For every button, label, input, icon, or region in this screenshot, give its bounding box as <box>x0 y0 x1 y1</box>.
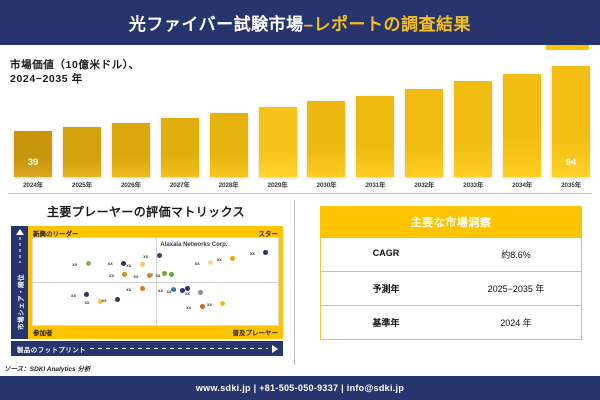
matrix-data-point <box>230 256 235 261</box>
matrix-plot-area: Alaxala Networks Corp. xxxxxxxxxxxxxxxxx… <box>32 237 279 326</box>
bar-column <box>63 59 101 177</box>
matrix-data-point <box>84 292 89 297</box>
matrix-point-label: xx <box>171 287 176 292</box>
bar <box>503 74 541 177</box>
matrix-point-label: xx <box>158 288 163 293</box>
lower-section: 主要プレーヤーの評価マトリックス 市場シェア・順位 新興のリーダー スター 参加… <box>0 196 600 366</box>
infographic-page: 光ファイバー試験市場–レポートの調査結果 市場価値（10億米ドル）、 2024−… <box>0 0 600 400</box>
matrix-point-label: xx <box>109 273 114 278</box>
insights-row-key: 基準年 <box>321 306 451 339</box>
market-value-chart: 市場価値（10億米ドル）、 2024−2035 年 3994 2024年2025… <box>0 50 600 195</box>
chart-bars: 3994 <box>14 59 590 177</box>
matrix-chart: 市場シェア・順位 新興のリーダー スター 参加者 普及プレーヤー Alaxala… <box>11 226 283 339</box>
bar-column: 39 <box>14 59 52 177</box>
footer-contact: www.sdki.jp | +81-505-050-9337 | info@sd… <box>196 383 404 393</box>
x-axis-tick-label: 2026年 <box>112 179 150 193</box>
matrix-x-axis: 製品のフットプリント <box>11 341 283 356</box>
insights-row-key: CAGR <box>321 238 451 271</box>
matrix-point-label: xx <box>71 293 76 298</box>
matrix-point-label: xx <box>167 289 172 294</box>
page-title-accent: –レポートの調査結果 <box>304 15 471 34</box>
bar <box>210 113 248 177</box>
matrix-point-label: xx <box>207 302 212 307</box>
chart-bottom-rule <box>8 193 592 194</box>
matrix-point-label: xx <box>250 251 255 256</box>
x-axis-tick-label: 2031年 <box>356 179 394 193</box>
arrow-up-icon <box>16 229 24 235</box>
quadrant-label-bottom-right: 普及プレーヤー <box>233 327 279 337</box>
bar-column <box>503 59 541 177</box>
source-note: ソース：SDKI Analytics 分析 <box>4 363 90 373</box>
bar-column <box>454 59 492 177</box>
plot-horizontal-divider <box>33 282 278 283</box>
x-axis-tick-label: 2032年 <box>405 179 443 193</box>
matrix-data-point <box>122 272 127 277</box>
matrix-data-point <box>208 260 213 265</box>
insights-row-value: 2025−2035 年 <box>451 272 581 305</box>
insights-row: 基準年2024 年 <box>320 306 582 340</box>
bar-value-label: 94 <box>552 157 590 168</box>
matrix-point-label: xx <box>217 257 222 262</box>
chart-x-axis: 2024年2025年2026年2027年2028年2029年2030年2031年… <box>14 179 590 193</box>
matrix-point-label: xx <box>133 274 138 279</box>
insights-row-value: 2024 年 <box>451 306 581 339</box>
insights-row: 予測年2025−2035 年 <box>320 272 582 306</box>
x-axis-tick-label: 2024年 <box>14 179 52 193</box>
y-axis-dashes <box>19 237 20 263</box>
matrix-point-label: xx <box>143 254 148 259</box>
matrix-point-label: xx <box>195 261 200 266</box>
page-title: 光ファイバー試験市場–レポートの調査結果 <box>129 10 471 35</box>
matrix-data-point <box>220 301 225 306</box>
x-axis-tick-label: 2027年 <box>161 179 199 193</box>
bar: 94 <box>552 66 590 177</box>
x-axis-tick-label: 2034年 <box>503 179 541 193</box>
matrix-data-point <box>121 261 126 266</box>
x-axis-dashes <box>90 348 268 349</box>
matrix-title: 主要プレーヤーの評価マトリックス <box>0 196 292 220</box>
x-axis-tick-label: 2029年 <box>259 179 297 193</box>
bar-column: 94 <box>552 59 590 177</box>
bar <box>356 96 394 177</box>
matrix-point-label: xx <box>126 287 131 292</box>
bar-column <box>210 59 248 177</box>
matrix-point-label: xx <box>84 300 89 305</box>
bar <box>161 118 199 177</box>
x-axis-tick-label: 2025年 <box>63 179 101 193</box>
arrow-right-icon <box>272 345 278 353</box>
matrix-data-point <box>115 297 120 302</box>
matrix-point-label: xx <box>102 298 107 303</box>
insights-rows: CAGR約8.6%予測年2025−2035 年基準年2024 年 <box>320 238 582 340</box>
bar-column <box>356 59 394 177</box>
x-axis-tick-label: 2035年 <box>552 179 590 193</box>
matrix-point-label: xx <box>126 263 131 268</box>
matrix-data-point <box>162 271 167 276</box>
matrix-data-point <box>140 262 145 267</box>
bar-column <box>161 59 199 177</box>
bar-column <box>307 59 345 177</box>
matrix-data-point <box>157 253 162 258</box>
page-header: 光ファイバー試験市場–レポートの調査結果 <box>0 0 600 45</box>
bar <box>454 81 492 177</box>
x-axis-tick-label: 2033年 <box>454 179 492 193</box>
bar-column <box>405 59 443 177</box>
matrix-data-point <box>198 290 203 295</box>
panel-divider <box>294 200 295 365</box>
x-axis-tick-label: 2028年 <box>210 179 248 193</box>
page-footer: www.sdki.jp | +81-505-050-9337 | info@sd… <box>0 376 600 400</box>
insights-row-value: 約8.6% <box>451 238 581 271</box>
bar <box>259 107 297 177</box>
matrix-data-point <box>169 272 174 277</box>
matrix-data-point <box>200 304 205 309</box>
matrix-x-axis-label: 製品のフットプリント <box>17 344 86 354</box>
matrix-point-label: xx <box>72 262 77 267</box>
page-title-primary: 光ファイバー試験市場 <box>129 15 304 34</box>
bar <box>112 123 150 177</box>
bar <box>63 127 101 177</box>
insights-row: CAGR約8.6% <box>320 238 582 272</box>
bar-value-label: 39 <box>14 157 52 168</box>
highlight-company-label: Alaxala Networks Corp. <box>160 242 227 248</box>
matrix-point-label: xx <box>185 291 190 296</box>
matrix-data-point <box>140 286 145 291</box>
insights-row-key: 予測年 <box>321 272 451 305</box>
bar <box>307 101 345 177</box>
matrix-y-axis-label: 市場シェア・順位 <box>15 270 25 334</box>
bar: 39 <box>14 131 52 177</box>
x-axis-tick-label: 2030年 <box>307 179 345 193</box>
matrix-data-point <box>86 261 91 266</box>
matrix-point-label: xx <box>108 261 113 266</box>
evaluation-matrix-panel: 主要プレーヤーの評価マトリックス 市場シェア・順位 新興のリーダー スター 参加… <box>0 196 292 366</box>
matrix-point-label: xx <box>186 305 191 310</box>
matrix-y-axis: 市場シェア・順位 <box>11 226 28 339</box>
key-insights-table: 主要な市場洞察 CAGR約8.6%予測年2025−2035 年基準年2024 年 <box>320 206 582 340</box>
bar-column <box>259 59 297 177</box>
insights-title: 主要な市場洞察 <box>320 206 582 238</box>
matrix-point-label: xx <box>156 273 161 278</box>
matrix-data-point <box>263 250 268 255</box>
matrix-body: 新興のリーダー スター 参加者 普及プレーヤー Alaxala Networks… <box>28 226 283 339</box>
matrix-data-point <box>147 273 152 278</box>
bar-column <box>112 59 150 177</box>
bar <box>405 89 443 178</box>
quadrant-label-bottom-left: 参加者 <box>33 327 53 337</box>
